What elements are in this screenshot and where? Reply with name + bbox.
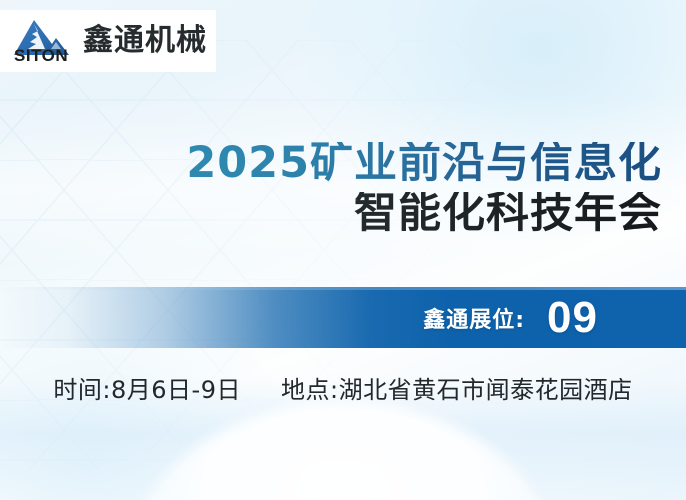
event-time: 时间:8月6日-9日 xyxy=(53,370,241,405)
white-dome-shape xyxy=(128,402,558,500)
title-line-2: 智能化科技年会 xyxy=(186,192,662,236)
booth-banner: 鑫通展位: 09 xyxy=(0,287,686,348)
booth-label: 鑫通展位: xyxy=(423,302,525,334)
title-line-1: 2025矿业前沿与信息化 xyxy=(186,142,662,186)
event-info-row: 时间:8月6日-9日 地点:湖北省黄石市闻泰花园酒店 xyxy=(0,370,686,405)
poster-title: 2025矿业前沿与信息化 智能化科技年会 xyxy=(186,142,662,236)
hexagon-pattern-icon xyxy=(0,40,480,470)
background-decoration xyxy=(0,0,686,500)
logo-latin-name: SITON xyxy=(14,46,68,66)
event-poster: SITON 鑫通机械 2025矿业前沿与信息化 智能化科技年会 鑫通展位: 09… xyxy=(0,0,686,500)
booth-number: 09 xyxy=(547,296,598,340)
mountain-logo-icon: SITON xyxy=(12,15,74,67)
company-logo: SITON 鑫通机械 xyxy=(0,10,216,72)
event-place: 地点:湖北省黄石市闻泰花园酒店 xyxy=(281,370,633,405)
logo-chinese-name: 鑫通机械 xyxy=(83,26,207,56)
